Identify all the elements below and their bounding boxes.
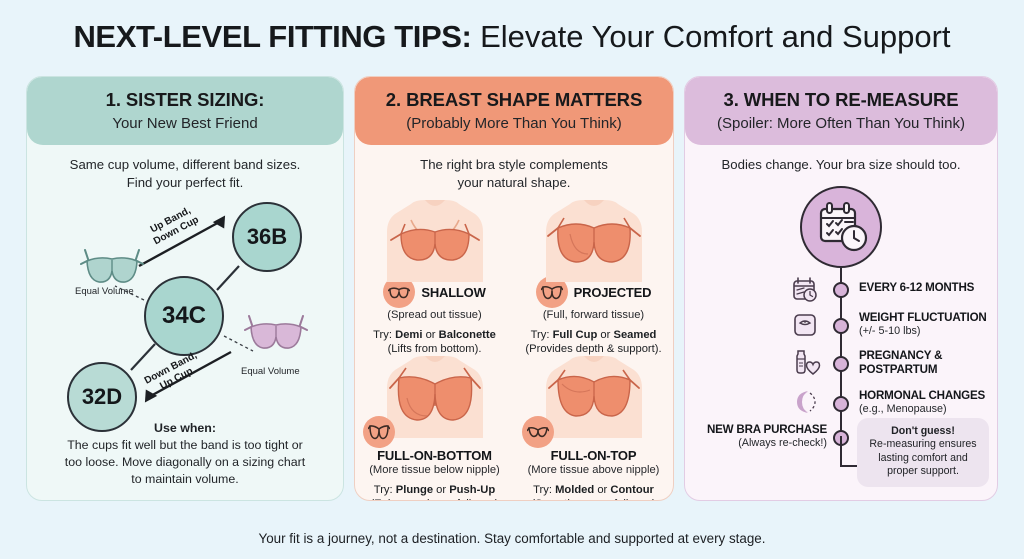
bra-illustration-teal bbox=[79, 246, 145, 288]
try-prefix-full-on-top: Try: bbox=[533, 484, 555, 496]
shape-label-row-full-on-top: FULL-ON-TOP bbox=[514, 448, 673, 463]
timeline-item-new-bra-purchase: NEW BRA PURCHASE (Always re-check!) bbox=[684, 423, 827, 450]
page-title: NEXT-LEVEL FITTING TIPS: Elevate Your Co… bbox=[0, 18, 1024, 56]
timeline-title-3b: POSTPARTUM bbox=[859, 363, 995, 377]
remeasure-timeline: EVERY 6-12 MONTHS WEIGHT FLUCTUATION (+/… bbox=[685, 178, 998, 501]
shape-cell-projected: PROJECTED (Full, forward tissue) Try: Fu… bbox=[514, 198, 673, 354]
try-prefix-shallow: Try: bbox=[373, 329, 395, 341]
shape-cell-full-on-bottom: FULL-ON-BOTTOM (More tissue below nipple… bbox=[355, 354, 514, 501]
try-b-full-on-top: Contour bbox=[610, 484, 654, 496]
panel2-intro-line2: your natural shape. bbox=[371, 174, 657, 192]
calendar-check-icon bbox=[791, 276, 821, 306]
baby-bottle-heart-icon bbox=[791, 348, 821, 378]
try-join-full-on-top: or bbox=[594, 484, 610, 496]
use-when-line3: to maintain volume. bbox=[43, 471, 327, 488]
panel1-intro-line2: Find your perfect fit. bbox=[43, 174, 327, 192]
try-a-full-on-bottom: Plunge bbox=[396, 484, 433, 496]
shape-try-full-on-bottom: Try: Plunge or Push-Up (Enhances lower f… bbox=[355, 483, 514, 501]
shape-desc-full-on-bottom: (More tissue below nipple) bbox=[355, 464, 514, 476]
callout-bold: Don't guess! bbox=[891, 425, 955, 437]
shape-name-shallow: SHALLOW bbox=[421, 285, 485, 300]
timeline-item-1: EVERY 6-12 MONTHS bbox=[859, 281, 995, 295]
try-a-projected: Full Cup bbox=[553, 329, 598, 341]
timeline-item-3: PREGNANCY & POSTPARTUM bbox=[859, 349, 995, 377]
panel3-heading: 3. WHEN TO RE-MEASURE bbox=[685, 87, 997, 113]
try-prefix-projected: Try: bbox=[531, 329, 553, 341]
torso-illustration-projected bbox=[514, 198, 673, 282]
moon-icon bbox=[791, 388, 821, 418]
try-note-full-on-bottom: (Enhances lower fullness) bbox=[355, 497, 514, 501]
shape-desc-projected: (Full, forward tissue) bbox=[514, 309, 673, 321]
callout-line1: Re-measuring ensures bbox=[863, 438, 983, 451]
weight-scale-icon bbox=[791, 311, 821, 341]
shape-desc-full-on-top: (More tissue above nipple) bbox=[514, 464, 673, 476]
timeline-sub-2: (+/- 5-10 lbs) bbox=[859, 325, 995, 338]
bra-illustration-pink bbox=[243, 312, 309, 354]
timeline-node-1 bbox=[833, 282, 849, 298]
timeline-title-1: EVERY 6-12 MONTHS bbox=[859, 281, 995, 295]
panel2-subheading: (Probably More Than You Think) bbox=[355, 113, 673, 135]
shape-name-projected: PROJECTED bbox=[574, 285, 652, 300]
panel2-heading: 2. BREAST SHAPE MATTERS bbox=[355, 87, 673, 113]
page-title-bold: NEXT-LEVEL FITTING TIPS: bbox=[73, 19, 471, 54]
timeline-title-3: PREGNANCY & bbox=[859, 349, 995, 363]
infographic-page: NEXT-LEVEL FITTING TIPS: Elevate Your Co… bbox=[0, 0, 1024, 559]
timeline-title-4: HORMONAL CHANGES bbox=[859, 389, 995, 403]
equal-volume-label-top: Equal Volume bbox=[75, 286, 134, 297]
try-a-shallow: Demi bbox=[395, 329, 422, 341]
panel-sister-sizing: 1. SISTER SIZING: Your New Best Friend S… bbox=[26, 76, 344, 501]
try-b-shallow: Balconette bbox=[439, 329, 496, 341]
try-b-projected: Seamed bbox=[613, 329, 656, 341]
footer-text: Your fit is a journey, not a destination… bbox=[0, 531, 1024, 546]
breast-shape-grid: SHALLOW (Spread out tissue) Try: Demi or… bbox=[355, 198, 673, 501]
try-note-full-on-top: (Smooths upper fullness) bbox=[514, 497, 673, 501]
try-prefix-full-on-bottom: Try: bbox=[374, 484, 396, 496]
panel1-subheading: Your New Best Friend bbox=[27, 113, 343, 135]
shape-label-row-full-on-bottom: FULL-ON-BOTTOM bbox=[355, 448, 514, 463]
new-bra-purchase-title: NEW BRA PURCHASE bbox=[684, 423, 827, 437]
timeline-node-4 bbox=[833, 396, 849, 412]
try-a-full-on-top: Molded bbox=[555, 484, 594, 496]
panel-when-to-remeasure: 3. WHEN TO RE-MEASURE (Spoiler: More Oft… bbox=[684, 76, 998, 501]
page-title-rest: Elevate Your Comfort and Support bbox=[471, 19, 950, 54]
new-bra-purchase-sub: (Always re-check!) bbox=[684, 437, 827, 450]
timeline-item-4: HORMONAL CHANGES (e.g., Menopause) bbox=[859, 389, 995, 416]
panel1-use-when: Use when: The cups fit well but the band… bbox=[27, 420, 343, 488]
shape-try-full-on-top: Try: Molded or Contour (Smooths upper fu… bbox=[514, 483, 673, 501]
torso-illustration-shallow bbox=[355, 198, 514, 282]
panel1-heading: 1. SISTER SIZING: bbox=[27, 87, 343, 113]
panel1-intro-line1: Same cup volume, different band sizes. bbox=[43, 156, 327, 174]
full-on-top-bra-icon bbox=[522, 416, 554, 448]
timeline-sub-4: (e.g., Menopause) bbox=[859, 403, 995, 416]
shape-desc-shallow: (Spread out tissue) bbox=[355, 309, 514, 321]
panel1-intro: Same cup volume, different band sizes. F… bbox=[27, 156, 343, 192]
full-on-bottom-bra-icon bbox=[363, 416, 395, 448]
panel2-intro-line1: The right bra style complements bbox=[371, 156, 657, 174]
panel2-intro: The right bra style complements your nat… bbox=[355, 156, 673, 192]
size-bubble-36b: 36B bbox=[232, 202, 302, 272]
try-join-full-on-bottom: or bbox=[433, 484, 449, 496]
shape-cell-shallow: SHALLOW (Spread out tissue) Try: Demi or… bbox=[355, 198, 514, 354]
shape-name-full-on-bottom: FULL-ON-BOTTOM bbox=[355, 448, 514, 463]
panel3-header: 3. WHEN TO RE-MEASURE (Spoiler: More Oft… bbox=[685, 77, 997, 145]
try-b-full-on-bottom: Push-Up bbox=[449, 484, 495, 496]
remeasure-callout: Don't guess! Re-measuring ensures lastin… bbox=[857, 418, 989, 487]
panel3-intro: Bodies change. Your bra size should too. bbox=[685, 156, 997, 174]
equal-volume-label-bottom: Equal Volume bbox=[241, 366, 300, 377]
callout-line2: lasting comfort and bbox=[863, 452, 983, 465]
timeline-node-2 bbox=[833, 318, 849, 334]
panel-breast-shape: 2. BREAST SHAPE MATTERS (Probably More T… bbox=[354, 76, 674, 501]
sister-sizing-diagram: Equal Volume Equal Volume 36B 34C 32D Up… bbox=[27, 194, 344, 424]
try-join-shallow: or bbox=[422, 329, 438, 341]
timeline-item-2: WEIGHT FLUCTUATION (+/- 5-10 lbs) bbox=[859, 311, 995, 338]
shape-try-shallow: Try: Demi or Balconette (Lifts from bott… bbox=[355, 328, 514, 356]
calendar-clock-icon bbox=[800, 186, 882, 268]
use-when-line1: The cups fit well but the band is too ti… bbox=[43, 437, 327, 454]
timeline-node-3 bbox=[833, 356, 849, 372]
use-when-line2: too loose. Move diagonally on a sizing c… bbox=[43, 454, 327, 471]
try-join-projected: or bbox=[597, 329, 613, 341]
shape-cell-full-on-top: FULL-ON-TOP (More tissue above nipple) T… bbox=[514, 354, 673, 501]
size-bubble-34c: 34C bbox=[144, 276, 224, 356]
shape-name-full-on-top: FULL-ON-TOP bbox=[514, 448, 673, 463]
timeline-title-2: WEIGHT FLUCTUATION bbox=[859, 311, 995, 325]
callout-line3: proper support. bbox=[863, 465, 983, 478]
panel3-subheading: (Spoiler: More Often Than You Think) bbox=[685, 113, 997, 135]
panel2-header: 2. BREAST SHAPE MATTERS (Probably More T… bbox=[355, 77, 673, 145]
panel1-header: 1. SISTER SIZING: Your New Best Friend bbox=[27, 77, 343, 145]
use-when-label: Use when: bbox=[154, 421, 216, 435]
shape-try-projected: Try: Full Cup or Seamed (Provides depth … bbox=[514, 328, 673, 356]
